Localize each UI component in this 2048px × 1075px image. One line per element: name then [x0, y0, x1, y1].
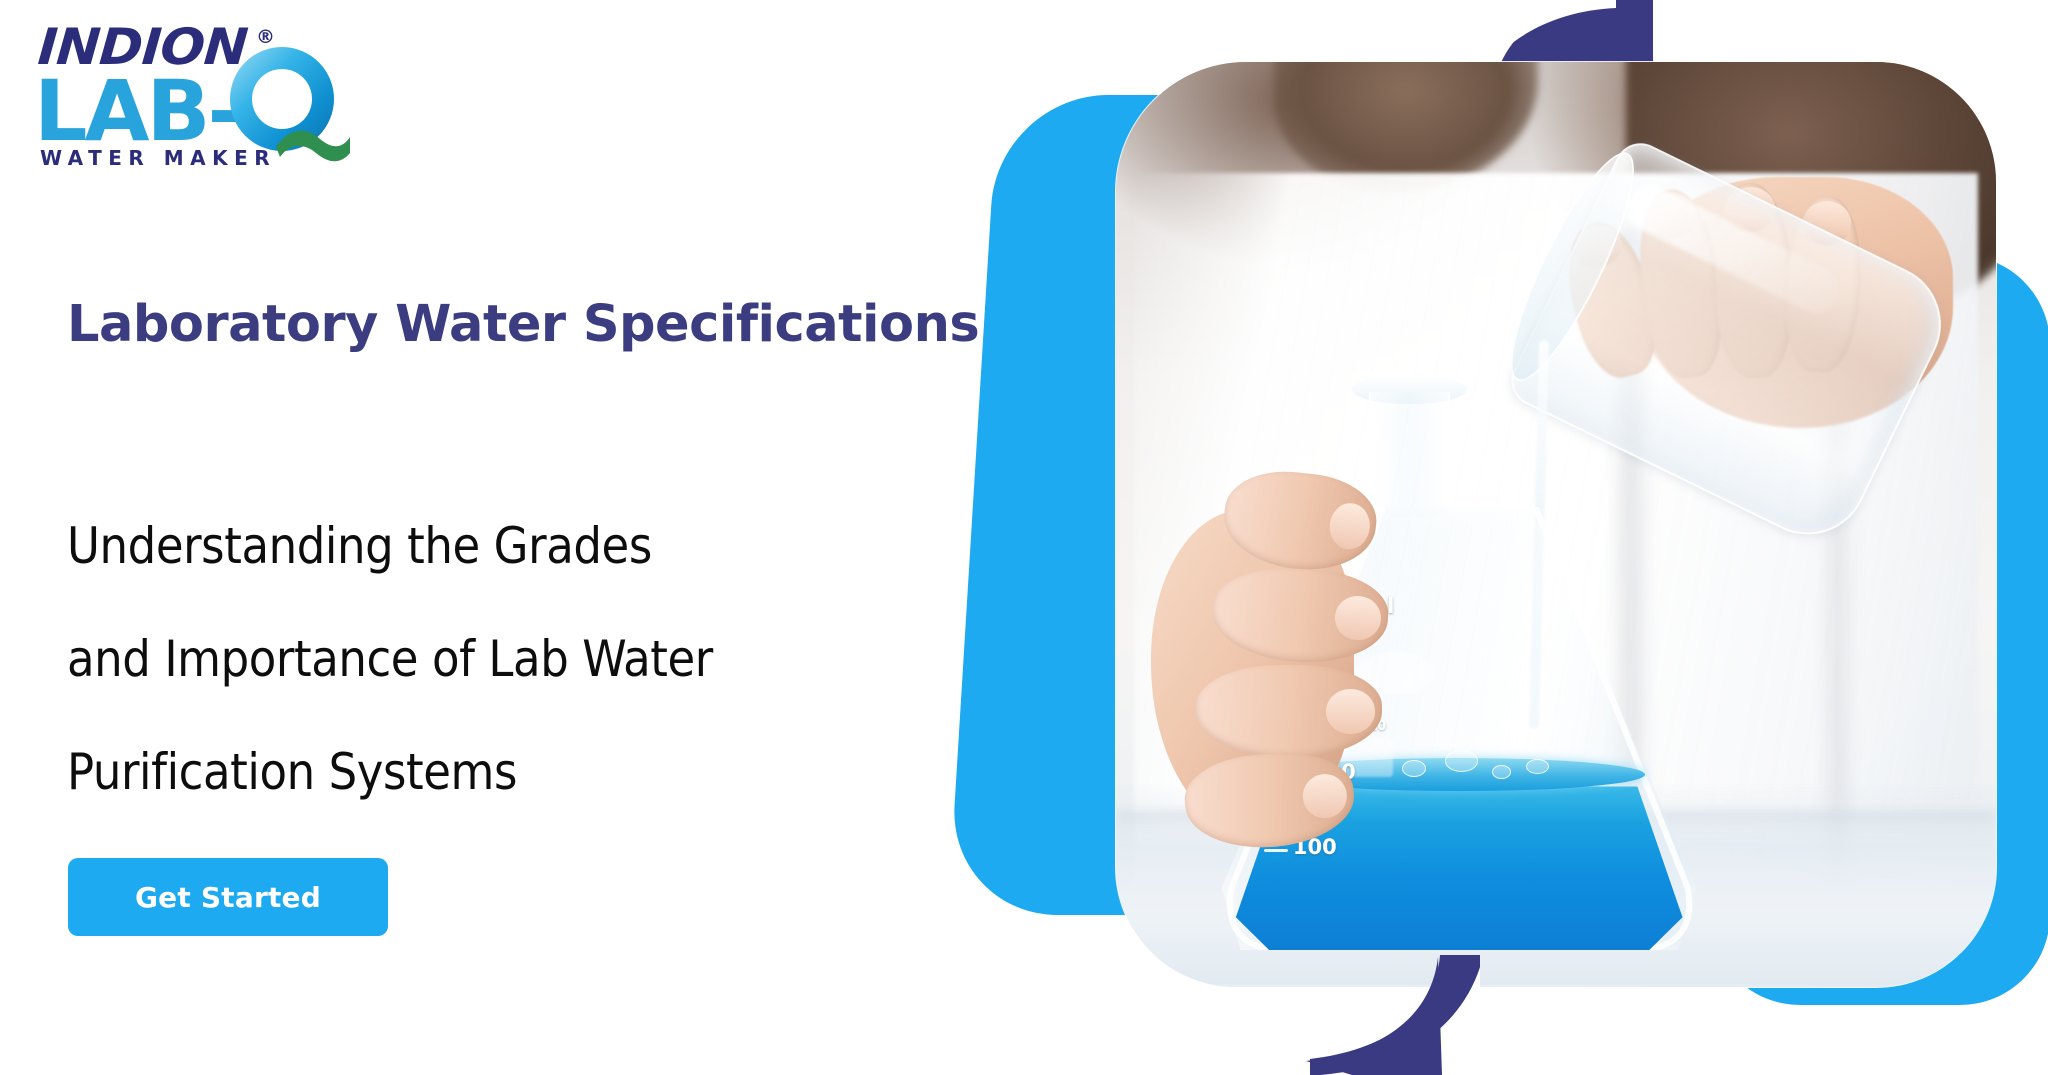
subheading-line-3: Purification Systems [67, 716, 1047, 829]
get-started-button[interactable]: Get Started [68, 858, 388, 936]
brand-logo[interactable]: INDION ® LAB- WATER MAKER [34, 22, 454, 177]
holding-finger-3 [1196, 665, 1382, 758]
fingernail-icon [1302, 773, 1349, 820]
bubble [1445, 750, 1478, 772]
fingernail-icon [1334, 595, 1382, 642]
subheading-line-1: Understanding the Grades [67, 490, 1047, 603]
left-content-panel: INDION ® LAB- WATER MAKER Laboratory Wat… [0, 0, 1090, 1072]
fingernail-icon [1326, 689, 1374, 733]
lab-photo: 250ml APROX. 200 Ι11-210 150 100 [1116, 62, 1996, 987]
fingernail-icon [1328, 501, 1372, 551]
holding-hand [1151, 488, 1433, 858]
logo-tagline: WATER MAKER [40, 146, 276, 170]
navy-crescent-bottom-decoration [1290, 955, 1480, 1075]
q-wave-tail-icon [276, 123, 350, 163]
hero-visual: 250ml APROX. 200 Ι11-210 150 100 [1090, 0, 2048, 1072]
registered-trademark-icon: ® [256, 26, 275, 48]
subheading-line-2: and Importance of Lab Water [67, 603, 1047, 716]
page-headline: Laboratory Water Specifications: [67, 270, 1027, 380]
logo-q-mark [230, 47, 342, 159]
logo-labq-wordmark: LAB- [34, 69, 239, 153]
page-subheading: Understanding the Grades and Importance … [67, 490, 1047, 829]
